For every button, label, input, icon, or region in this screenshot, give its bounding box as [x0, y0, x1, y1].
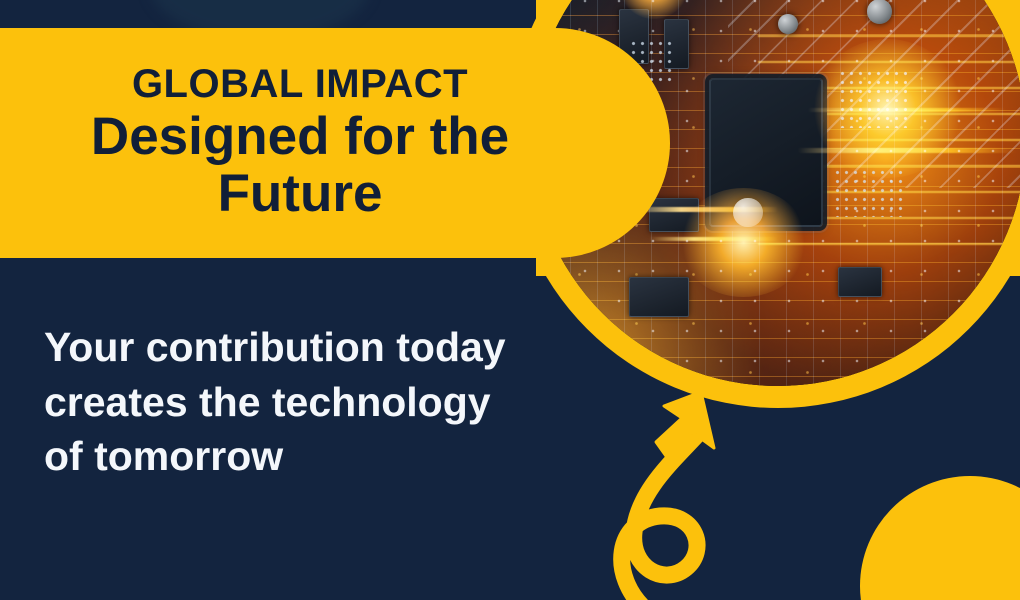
pcb-chip: [838, 267, 883, 297]
pcb-glow: [679, 188, 808, 297]
pcb-glow-bar: [629, 207, 778, 212]
pcb-capacitor: [778, 14, 798, 34]
pcb-capacitor: [867, 0, 892, 24]
pcb-glow-bar: [649, 237, 778, 241]
eyebrow-text: GLOBAL IMPACT: [132, 63, 468, 105]
promotional-poster: GLOBAL IMPACT Designed for the Future Yo…: [0, 0, 1020, 600]
curly-up-right-arrow-icon: [568, 370, 798, 600]
pcb-glow-bar: [808, 108, 1006, 112]
page-title: Designed for the Future: [20, 109, 580, 222]
pcb-chip: [629, 277, 689, 317]
body-copy: Your contribution today creates the tech…: [44, 320, 514, 484]
headline-banner: GLOBAL IMPACT Designed for the Future: [0, 28, 670, 258]
pcb-glow-bar: [798, 148, 1016, 153]
